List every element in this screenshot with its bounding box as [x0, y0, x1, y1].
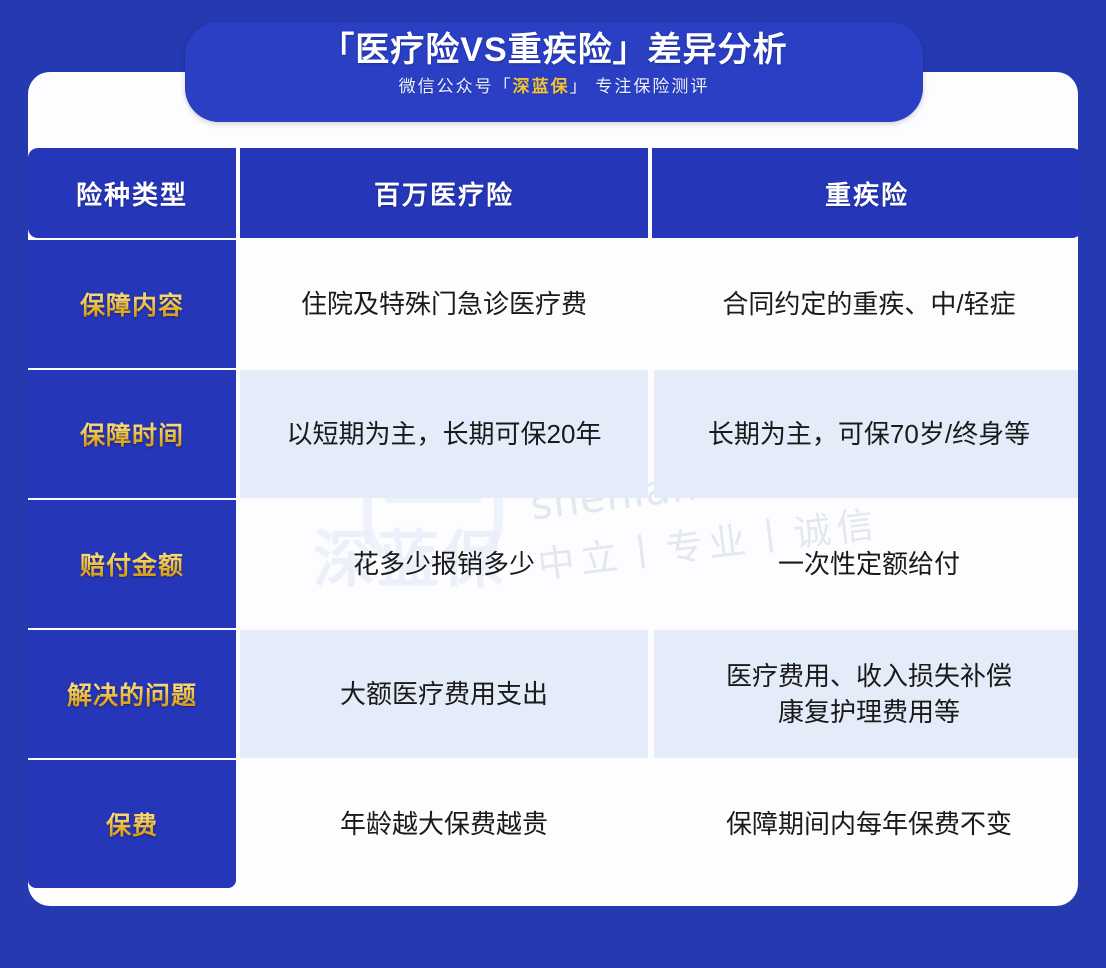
page-title: 「医疗险VS重疾险」差异分析 — [320, 26, 787, 74]
row-label: 保费 — [106, 806, 158, 842]
content-card: 深蓝保 shenlanbao.com 中立丨专业丨诚信 险种类型 百万医疗险 重… — [28, 72, 1078, 906]
subtitle-suffix: 」 专注保险测评 — [570, 77, 710, 96]
row-label: 保障时间 — [80, 416, 184, 452]
cell-critical: 合同约定的重疾、中/轻症 — [654, 240, 1078, 368]
column-header-critical: 重疾险 — [652, 148, 1078, 238]
cell-medical: 大额医疗费用支出 — [240, 630, 648, 758]
cell-critical: 保障期间内每年保费不变 — [654, 760, 1078, 888]
title-banner: 「医疗险VS重疾险」差异分析 微信公众号「深蓝保」 专注保险测评 — [185, 22, 923, 122]
cell-medical: 住院及特殊门急诊医疗费 — [240, 240, 648, 368]
cell-medical: 以短期为主，长期可保20年 — [240, 370, 648, 498]
row-label: 解决的问题 — [67, 676, 197, 712]
subtitle-brand: 深蓝保 — [513, 77, 570, 96]
cell-critical: 医疗费用、收入损失补偿 康复护理费用等 — [654, 630, 1078, 758]
table-row: 保费 年龄越大保费越贵 保障期间内每年保费不变 — [28, 760, 1078, 888]
cell-critical-line1: 医疗费用、收入损失补偿 — [726, 658, 1012, 694]
table-row: 保障时间 以短期为主，长期可保20年 长期为主，可保70岁/终身等 — [28, 370, 1078, 498]
comparison-table: 险种类型 百万医疗险 重疾险 保障内容 住院及特殊门急诊医疗费 合同约定的重疾、… — [28, 148, 1078, 888]
column-header-type: 险种类型 — [28, 148, 236, 238]
cell-critical-line2: 康复护理费用等 — [726, 694, 1012, 730]
table-header-row: 险种类型 百万医疗险 重疾险 — [28, 148, 1078, 238]
row-label: 保障内容 — [80, 286, 184, 322]
page-subtitle: 微信公众号「深蓝保」 专注保险测评 — [399, 74, 710, 100]
column-header-medical: 百万医疗险 — [240, 148, 648, 238]
subtitle-prefix: 微信公众号「 — [399, 77, 513, 96]
cell-critical: 一次性定额给付 — [654, 500, 1078, 628]
cell-medical: 花多少报销多少 — [240, 500, 648, 628]
table-row: 解决的问题 大额医疗费用支出 医疗费用、收入损失补偿 康复护理费用等 — [28, 630, 1078, 758]
cell-medical: 年龄越大保费越贵 — [240, 760, 648, 888]
table-row: 保障内容 住院及特殊门急诊医疗费 合同约定的重疾、中/轻症 — [28, 240, 1078, 368]
cell-critical: 长期为主，可保70岁/终身等 — [654, 370, 1078, 498]
row-label: 赔付金额 — [80, 546, 184, 582]
table-row: 赔付金额 花多少报销多少 一次性定额给付 — [28, 500, 1078, 628]
